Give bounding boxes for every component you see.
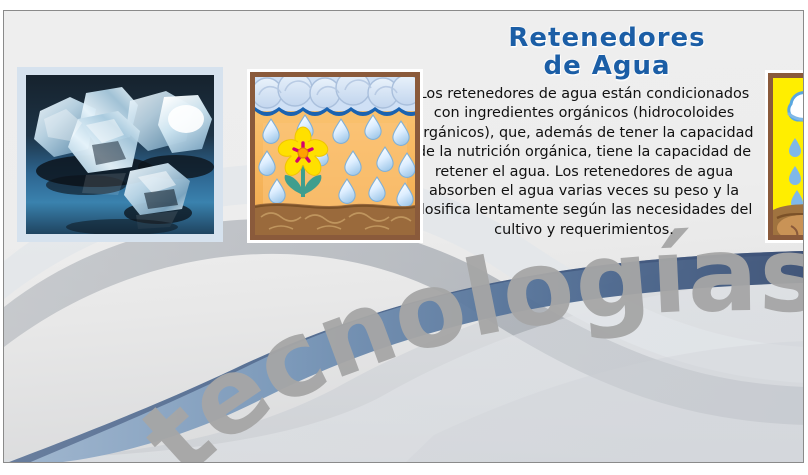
rain-illustration-artwork: [773, 78, 804, 240]
ice-cubes-photo: [26, 75, 214, 234]
rain-roots-image: [765, 70, 804, 243]
soil-water-diagram-image: [247, 69, 423, 243]
body-paragraph: Los retenedores de agua están condiciona…: [412, 85, 756, 240]
soil-diagram-artwork: [255, 77, 415, 235]
page-title-line-1: Retenedores: [422, 24, 792, 52]
page-title: Retenedores de Agua: [422, 24, 792, 80]
page-title-line-2: de Agua: [422, 52, 792, 80]
ice-cubes-artwork: [26, 75, 214, 234]
ice-cubes-image: [17, 67, 223, 242]
slide-canvas: tecnologías Retenedores de Agua Los rete…: [3, 10, 804, 463]
rain-illustration-frame: [768, 73, 804, 240]
soil-diagram-frame: [250, 72, 420, 240]
